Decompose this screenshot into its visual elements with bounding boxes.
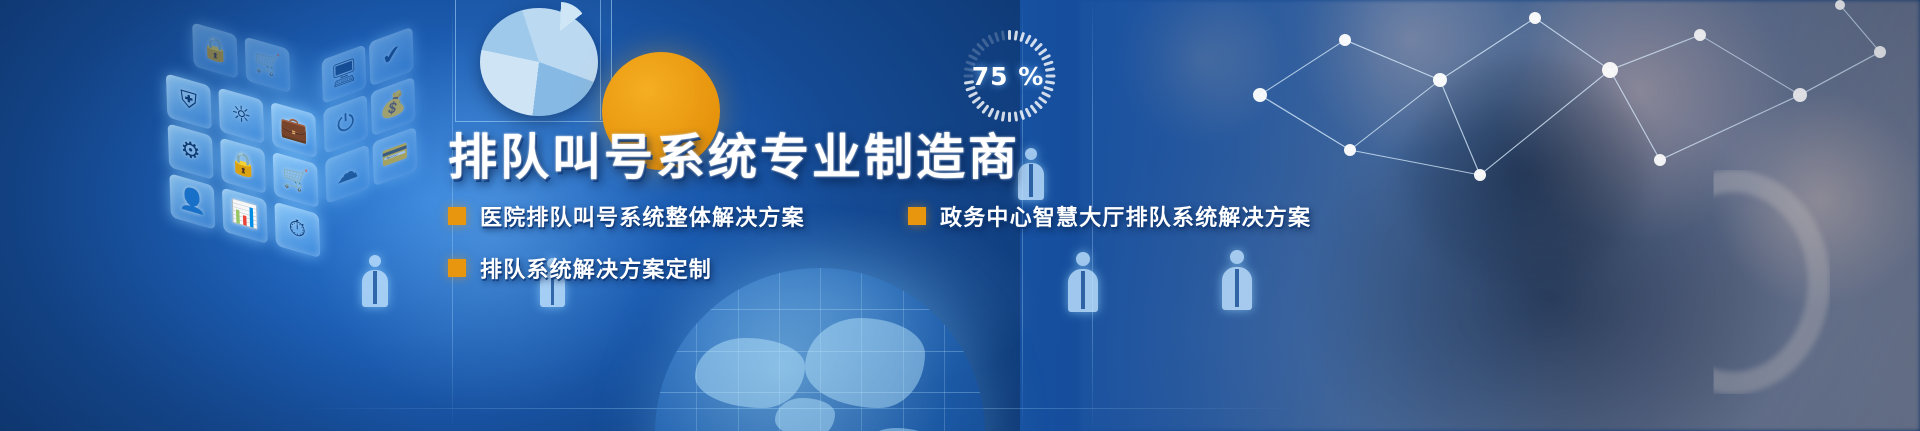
list-item: 政务中心智慧大厅排队系统解决方案 xyxy=(908,200,1311,232)
list-item-label: 排队系统解决方案定制 xyxy=(480,252,712,284)
feature-row-2: 排队系统解决方案定制 xyxy=(448,252,1328,304)
promo-banner: ⛨☼💼⚙🔒🛒👤📊⏱🖥⏻☁✔💰💳🔒🛒 xyxy=(0,0,1920,431)
feature-list: 医院排队叫号系统整体解决方案 政务中心智慧大厅排队系统解决方案 排队系统解决方案… xyxy=(448,200,1328,304)
list-item: 排队系统解决方案定制 xyxy=(448,252,712,284)
bullet-square-icon xyxy=(448,207,466,225)
banner-content: 排队叫号系统专业制造商 医院排队叫号系统整体解决方案 政务中心智慧大厅排队系统解… xyxy=(0,0,1920,431)
list-item-label: 政务中心智慧大厅排队系统解决方案 xyxy=(940,200,1311,232)
list-item-label: 医院排队叫号系统整体解决方案 xyxy=(480,200,805,232)
bullet-square-icon xyxy=(448,259,466,277)
list-item: 医院排队叫号系统整体解决方案 xyxy=(448,200,805,232)
page-title: 排队叫号系统专业制造商 xyxy=(448,133,1020,182)
feature-row-1: 医院排队叫号系统整体解决方案 政务中心智慧大厅排队系统解决方案 xyxy=(448,200,1328,252)
bullet-square-icon xyxy=(908,207,926,225)
